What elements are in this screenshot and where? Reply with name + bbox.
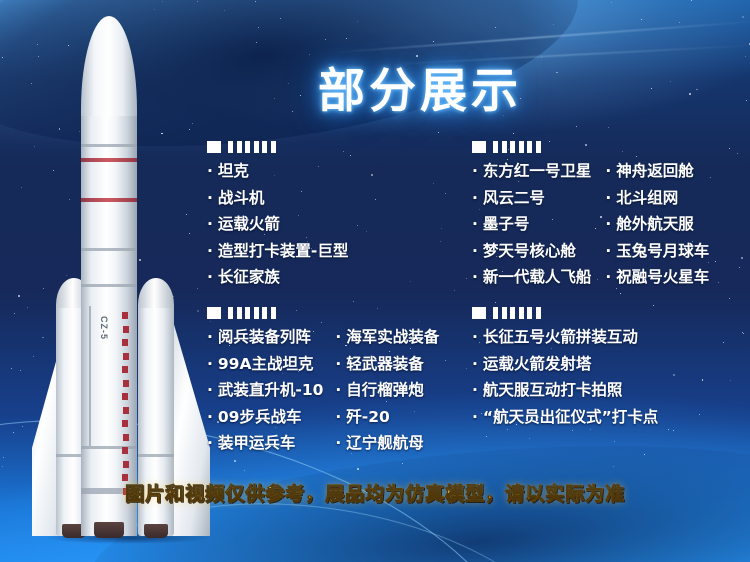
- list-item[interactable]: 航天服互动打卡拍照: [472, 377, 658, 404]
- redacted-square-icon: [207, 307, 221, 319]
- list-item[interactable]: 海军实战装备: [335, 324, 439, 351]
- list-item[interactable]: 长征家族: [207, 264, 348, 291]
- page-title: 部分展示: [318, 52, 522, 121]
- list-block-1: 坦克 战斗机 运载火箭 造型打卡装置-巨型 长征家族: [207, 140, 348, 291]
- list-item[interactable]: “航天员出征仪式”打卡点: [472, 404, 658, 431]
- redacted-square-icon: [207, 141, 221, 153]
- list-item[interactable]: 北斗组网: [605, 185, 709, 212]
- rocket-ring-core-1: [81, 144, 137, 147]
- rocket-nose-cone: [81, 16, 137, 122]
- rocket-nozzle-core: [94, 522, 124, 538]
- redacted-bars-icon: [493, 307, 541, 319]
- light-streak-1: [331, 20, 750, 53]
- redacted-square-icon: [472, 141, 486, 153]
- list-item[interactable]: 长征五号火箭拼装互动: [472, 324, 658, 351]
- list-item[interactable]: 战斗机: [207, 185, 348, 212]
- list-block-4: 长征五号火箭拼装互动 运载火箭发射塔 航天服互动打卡拍照 “航天员出征仪式”打卡…: [472, 306, 658, 430]
- list-item[interactable]: 轻武器装备: [335, 351, 439, 378]
- list-item[interactable]: 歼-20: [335, 404, 439, 431]
- disclaimer-bar: 图片和视频仅供参考，展品均为仿真模型，请以实际为准: [0, 472, 750, 512]
- rocket-illustration: CZ-5: [26, 16, 216, 538]
- list-item[interactable]: 运载火箭: [207, 211, 348, 238]
- rocket-label-cz5: CZ-5: [99, 316, 109, 340]
- list-item[interactable]: 运载火箭发射塔: [472, 351, 658, 378]
- list-item[interactable]: 辽宁舰航母: [335, 430, 439, 457]
- rocket-nozzle-right: [144, 524, 168, 538]
- rocket-ring-core-2: [81, 248, 137, 251]
- list-item[interactable]: 玉兔号月球车: [605, 238, 709, 265]
- list-item[interactable]: 阅兵装备列阵: [207, 324, 323, 351]
- redacted-bars-icon: [228, 141, 276, 153]
- list-item[interactable]: 墨子号: [472, 211, 591, 238]
- redacted-bars-icon: [228, 307, 276, 319]
- list-block-3: 阅兵装备列阵 99A主战坦克 武装直升机-10 09步兵战车 装甲运兵车 海军实…: [207, 306, 439, 457]
- list-block-4-columns: 长征五号火箭拼装互动 运载火箭发射塔 航天服互动打卡拍照 “航天员出征仪式”打卡…: [472, 324, 658, 430]
- list-block-2: 东方红一号卫星 风云二号 墨子号 梦天号核心舱 新一代载人飞船 神舟返回舱 北斗…: [472, 140, 709, 291]
- list-column: 海军实战装备 轻武器装备 自行榴弹炮 歼-20 辽宁舰航母: [335, 324, 439, 457]
- list-block-3-columns: 阅兵装备列阵 99A主战坦克 武装直升机-10 09步兵战车 装甲运兵车 海军实…: [207, 324, 439, 457]
- list-column: 阅兵装备列阵 99A主战坦克 武装直升机-10 09步兵战车 装甲运兵车: [207, 324, 323, 457]
- list-item[interactable]: 装甲运兵车: [207, 430, 323, 457]
- list-block-2-header-redacted: [472, 140, 709, 153]
- list-item[interactable]: 新一代载人飞船: [472, 264, 591, 291]
- disclaimer-text: 图片和视频仅供参考，展品均为仿真模型，请以实际为准: [125, 479, 625, 506]
- list-block-1-columns: 坦克 战斗机 运载火箭 造型打卡装置-巨型 长征家族: [207, 158, 348, 291]
- list-item[interactable]: 舱外航天服: [605, 211, 709, 238]
- poster-canvas: CZ-5 部分展示 坦克 战斗机 运载火箭 造型打卡装置-巨型 长征家族: [0, 0, 750, 562]
- redacted-bars-icon: [493, 141, 541, 153]
- list-item[interactable]: 梦天号核心舱: [472, 238, 591, 265]
- list-item[interactable]: 祝融号火星车: [605, 264, 709, 291]
- rocket-red-band-2: [81, 198, 137, 202]
- list-block-1-header-redacted: [207, 140, 348, 153]
- list-block-2-columns: 东方红一号卫星 风云二号 墨子号 梦天号核心舱 新一代载人飞船 神舟返回舱 北斗…: [472, 158, 709, 291]
- rocket-interstage-detail: [89, 306, 91, 446]
- list-column: 神舟返回舱 北斗组网 舱外航天服 玉兔号月球车 祝融号火星车: [605, 158, 709, 291]
- list-item[interactable]: 武装直升机-10: [207, 377, 323, 404]
- list-block-3-header-redacted: [207, 306, 439, 319]
- list-item[interactable]: 坦克: [207, 158, 348, 185]
- rocket-booster-right-nose: [138, 278, 174, 308]
- list-item[interactable]: 自行榴弹炮: [335, 377, 439, 404]
- redacted-square-icon: [472, 307, 486, 319]
- rocket-ring-right-1: [138, 454, 174, 457]
- list-column: 长征五号火箭拼装互动 运载火箭发射塔 航天服互动打卡拍照 “航天员出征仪式”打卡…: [472, 324, 658, 430]
- list-item[interactable]: 造型打卡装置-巨型: [207, 238, 348, 265]
- list-column: 东方红一号卫星 风云二号 墨子号 梦天号核心舱 新一代载人飞船: [472, 158, 591, 291]
- list-block-4-header-redacted: [472, 306, 658, 319]
- list-item[interactable]: 东方红一号卫星: [472, 158, 591, 185]
- list-item[interactable]: 09步兵战车: [207, 404, 323, 431]
- list-item[interactable]: 神舟返回舱: [605, 158, 709, 185]
- list-item[interactable]: 风云二号: [472, 185, 591, 212]
- rocket-ring-core-3: [81, 284, 137, 287]
- rocket-red-band-1: [81, 158, 137, 162]
- list-item[interactable]: 99A主战坦克: [207, 351, 323, 378]
- list-column: 坦克 战斗机 运载火箭 造型打卡装置-巨型 长征家族: [207, 158, 348, 291]
